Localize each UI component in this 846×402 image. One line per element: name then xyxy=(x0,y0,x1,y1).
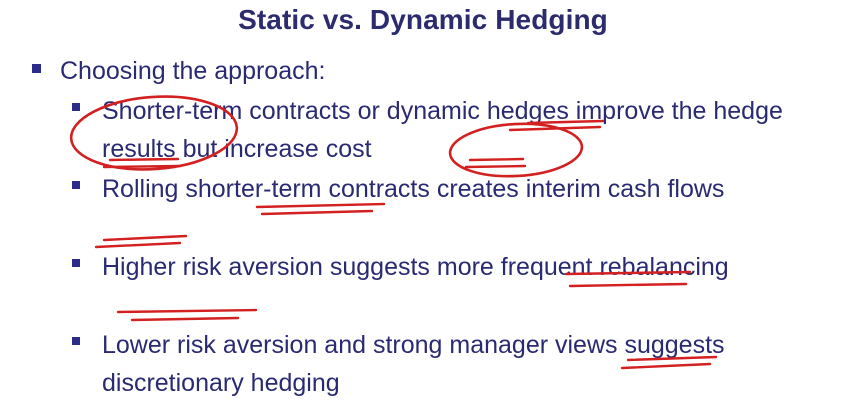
list-item: Shorter-term contracts or dynamic hedges… xyxy=(72,92,832,168)
slide-canvas: Static vs. Dynamic Hedging Choosing the … xyxy=(0,0,846,401)
square-bullet-icon xyxy=(32,64,41,73)
underline-flows-lower xyxy=(96,243,180,247)
underline-flows-upper xyxy=(104,236,186,240)
square-bullet-icon xyxy=(72,337,80,345)
square-bullet-icon xyxy=(72,181,80,189)
underline-rebalancing-lower xyxy=(132,318,238,320)
list-item-level1-label: Choosing the approach: xyxy=(60,52,325,90)
page-title: Static vs. Dynamic Hedging xyxy=(0,4,846,36)
list-item-label: Lower risk aversion and strong manager v… xyxy=(102,326,832,402)
list-item-label: Rolling shorter-term contracts creates i… xyxy=(102,170,724,208)
list-item-label: Higher risk aversion suggests more frequ… xyxy=(102,248,729,286)
square-bullet-icon xyxy=(72,259,80,267)
square-bullet-icon xyxy=(72,103,80,111)
list-item: Lower risk aversion and strong manager v… xyxy=(72,326,832,402)
list-item: Rolling shorter-term contracts creates i… xyxy=(72,170,832,208)
underline-shorter-term-lower xyxy=(262,211,372,214)
list-item-level1: Choosing the approach: xyxy=(32,52,532,90)
underline-rebalancing-upper xyxy=(118,310,256,312)
list-item-label: Shorter-term contracts or dynamic hedges… xyxy=(102,92,832,168)
list-item: Higher risk aversion suggests more frequ… xyxy=(72,248,832,286)
